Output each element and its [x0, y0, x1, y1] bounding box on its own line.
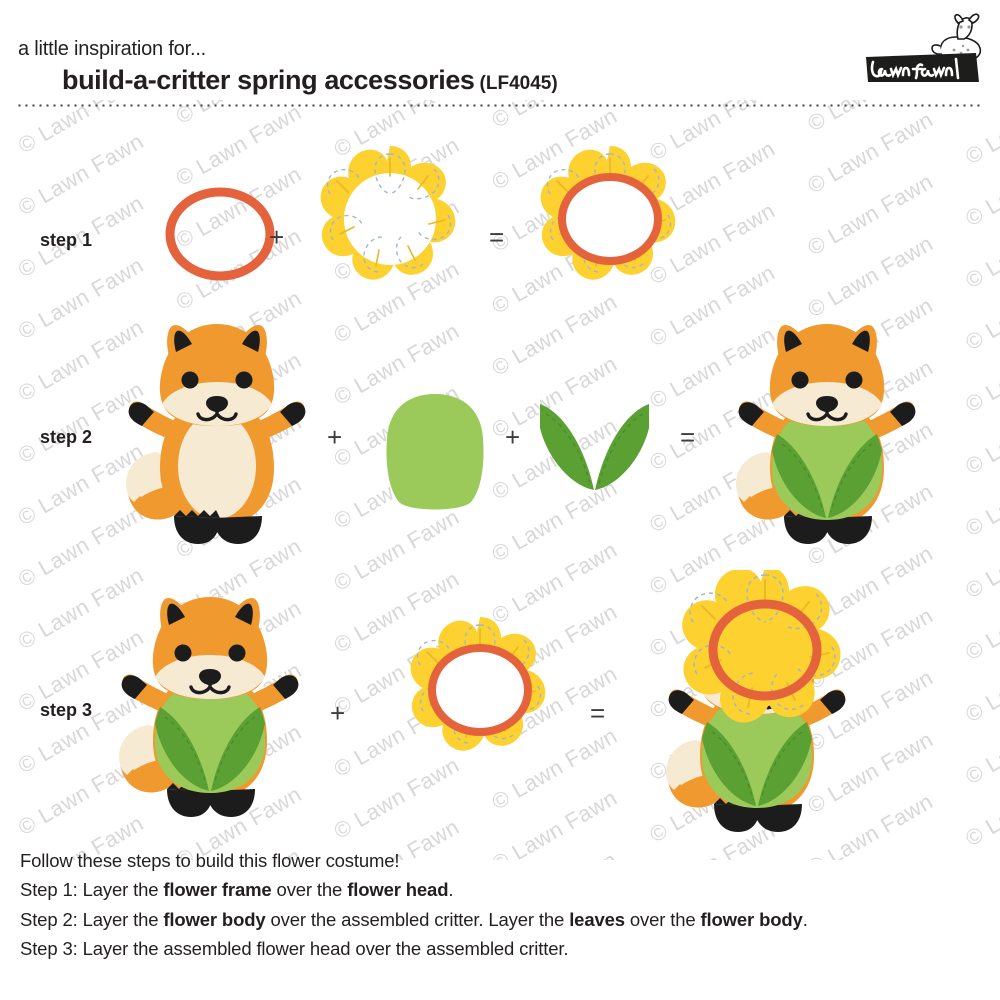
flower-frame-piece — [160, 172, 280, 297]
step-3-label: step 3 — [40, 700, 92, 721]
instruction-step-1: Step 1: Layer the flower frame over the … — [20, 877, 960, 903]
dotted-divider — [16, 104, 984, 107]
steps-stage: step 1 + — [0, 112, 1000, 842]
s2-mid-2: over the — [625, 909, 701, 930]
flower-body-piece — [375, 390, 495, 520]
fox-critter-piece — [112, 304, 322, 559]
s3-prefix: Step 3: Layer the assembled flower head … — [20, 938, 568, 959]
s2-bold-2: leaves — [569, 909, 625, 930]
title-text: build-a-critter spring accessories — [62, 65, 475, 95]
s2-bold-1: flower body — [163, 909, 265, 930]
step-1-operator-plus: + — [269, 224, 284, 250]
step-2-operator-plus-2: + — [505, 424, 520, 450]
s1-bold-1: flower frame — [163, 879, 271, 900]
instruction-step-3: Step 3: Layer the assembled flower head … — [20, 936, 960, 962]
instructions-intro: Follow these steps to build this flower … — [20, 848, 960, 874]
sku-code: (LF4045) — [480, 73, 558, 94]
step-3-operator-plus: + — [330, 700, 345, 726]
step-1-operator-equals: = — [489, 224, 504, 250]
s2-suffix: . — [803, 909, 808, 930]
step-2-operator-equals: = — [680, 424, 695, 450]
s2-bold-3: flower body — [701, 909, 803, 930]
header: a little inspiration for... build-a-crit… — [0, 0, 1000, 112]
s1-suffix: . — [448, 879, 453, 900]
header-kicker: a little inspiration for... — [18, 38, 206, 61]
s1-bold-2: flower head — [347, 879, 448, 900]
inspiration-sheet: © Lawn Fawn© Lawn Fawn© Lawn Fawn© Lawn … — [0, 0, 1000, 1000]
s1-mid: over the — [272, 879, 348, 900]
page-title: build-a-critter spring accessories(LF404… — [62, 65, 558, 96]
s1-prefix: Step 1: Layer the — [20, 879, 163, 900]
step-1-label: step 1 — [40, 230, 92, 251]
lawn-fawn-logo — [866, 12, 986, 84]
assembled-flower-head-piece — [385, 607, 575, 802]
instruction-step-2: Step 2: Layer the flower body over the a… — [20, 907, 960, 933]
step-2-operator-plus-1: + — [327, 424, 342, 450]
s2-mid: over the assembled critter. Layer the — [266, 909, 570, 930]
s2-prefix: Step 2: Layer the — [20, 909, 163, 930]
assembled-critter-piece — [105, 577, 315, 832]
step-3-operator-equals: = — [590, 700, 605, 726]
leaves-piece — [532, 394, 657, 517]
instructions-block: Follow these steps to build this flower … — [20, 848, 960, 965]
flower-head-piece — [295, 136, 485, 331]
step-2-label: step 2 — [40, 427, 92, 448]
finished-flower-costume-fox — [640, 570, 875, 847]
assembled-flower-head-result — [515, 136, 705, 331]
assembled-critter-result — [722, 304, 932, 559]
